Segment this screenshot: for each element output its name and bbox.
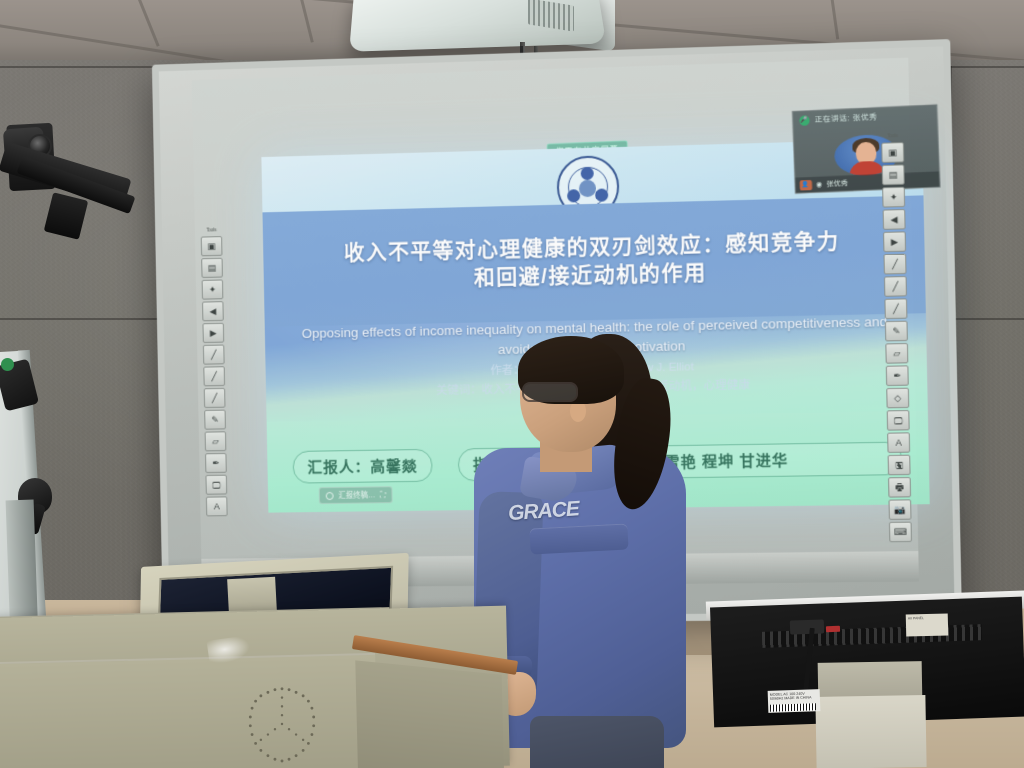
- pen-thin-icon[interactable]: ╱: [203, 345, 225, 365]
- video-conference-panel[interactable]: 🎤 正在讲话: 张优秀 👤 ◉ 张优秀: [792, 104, 941, 194]
- text-icon[interactable]: A: [887, 432, 910, 453]
- back-arrow-icon[interactable]: ◀: [883, 209, 906, 230]
- text-icon[interactable]: A: [206, 496, 228, 516]
- highlighter-icon[interactable]: ✎: [885, 321, 908, 342]
- right-monitor-base-panel: [815, 695, 926, 768]
- left-toolbar-label: Tools: [206, 227, 216, 233]
- star-icon[interactable]: ✦: [202, 279, 224, 299]
- keyboard-icon[interactable]: ⌨: [889, 522, 912, 543]
- pen-thick-icon[interactable]: ╱: [204, 388, 226, 408]
- taskbar-label: 汇报终稿…: [338, 489, 375, 500]
- eraser-icon[interactable]: ▱: [205, 431, 227, 451]
- presenter-jacket-pocket: [529, 523, 628, 554]
- floating-taskbar[interactable]: 汇报终稿… ⛶: [319, 486, 393, 504]
- lectern-monitor-hinge: [227, 577, 277, 613]
- screen-icon[interactable]: 🖵: [205, 475, 227, 495]
- presenter-chip: 汇报人：高馨燚: [293, 448, 433, 483]
- presenter: GRACE: [474, 330, 704, 768]
- vc-speaking-label: 正在讲话: 张优秀: [814, 111, 877, 125]
- slide-title-band: 收入不平等对心理健康的双刃剑效应：感知竞争力 和回避/接近动机的作用: [262, 195, 925, 327]
- pen-thin-icon[interactable]: ╱: [884, 254, 907, 275]
- user-avatar-icon: 👤: [800, 179, 813, 190]
- lectern-side-panel: [355, 660, 504, 768]
- vc-header: 🎤 正在讲话: 张优秀: [793, 105, 937, 129]
- right-toolbar-label: Tools: [887, 133, 898, 139]
- whiteboard-green-dot-icon: [1, 358, 14, 371]
- smartboard-left-toolbar[interactable]: Tools ▣ ▤ ✦ ◀ ▶ ╱ ╱ ╱ ✎ ▱ ✒ 🖵 A: [199, 227, 230, 516]
- microphone-icon: 🎤: [799, 115, 810, 126]
- right-monitor-power-connector: [826, 626, 840, 632]
- expand-icon[interactable]: ⛶: [380, 490, 385, 500]
- page-icon[interactable]: ▤: [882, 164, 905, 185]
- av-wall-panel: AV PANEL: [906, 613, 949, 636]
- pen-thick-icon[interactable]: ╱: [884, 298, 907, 319]
- save-icon[interactable]: 🖫: [888, 455, 911, 476]
- screen-icon[interactable]: 🖵: [887, 410, 910, 431]
- back-arrow-icon[interactable]: ◀: [202, 301, 224, 321]
- print-icon[interactable]: 🖶: [888, 477, 911, 498]
- record-icon[interactable]: [326, 491, 334, 499]
- presenter-trousers: [530, 716, 664, 768]
- pen-medium-icon[interactable]: ╱: [203, 366, 225, 386]
- camera-icon[interactable]: ◉: [816, 180, 823, 188]
- slide-title-line1: 收入不平等对心理健康的双刃剑效应：感知竞争力: [344, 229, 840, 267]
- star-icon[interactable]: ✦: [882, 187, 905, 208]
- pen-medium-icon[interactable]: ╱: [884, 276, 907, 297]
- lecture-hall-scene: 您正在共享屏幕 ⏮ ❚❚ 0:05:07 ↻ 0:09:07: [0, 0, 1024, 768]
- page-icon[interactable]: ▤: [201, 258, 223, 278]
- forward-arrow-icon[interactable]: ▶: [883, 231, 906, 252]
- highlighter-icon[interactable]: ✎: [204, 410, 226, 430]
- forward-arrow-icon[interactable]: ▶: [202, 323, 224, 343]
- select-icon[interactable]: ▣: [881, 142, 904, 163]
- slide-title-line2: 和回避/接近动机的作用: [474, 260, 707, 291]
- vc-participant-name: 张优秀: [826, 178, 848, 189]
- select-icon[interactable]: ▣: [201, 236, 223, 256]
- presenter-glasses: [522, 382, 578, 402]
- lectern-speaker-grille-icon: [238, 680, 326, 768]
- brush-icon[interactable]: ✒: [886, 365, 909, 386]
- brush-icon[interactable]: ✒: [205, 453, 227, 473]
- eraser-icon[interactable]: ▱: [885, 343, 908, 364]
- camera-capture-icon[interactable]: 📷: [888, 499, 911, 520]
- shape-icon[interactable]: ◇: [886, 388, 909, 409]
